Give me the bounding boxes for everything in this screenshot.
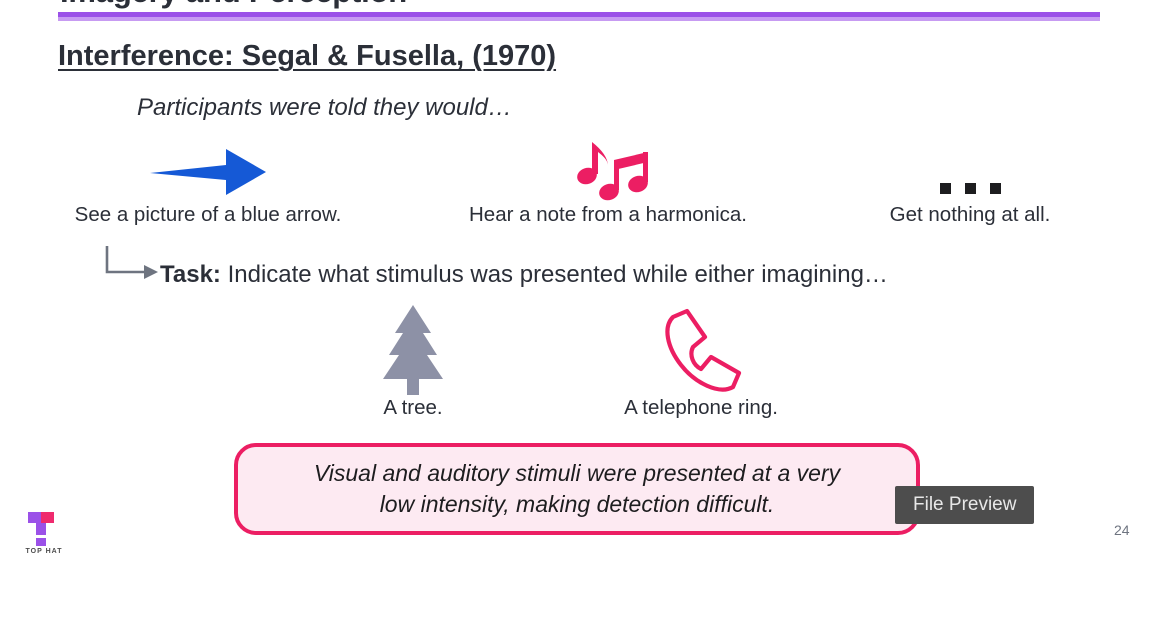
intro-subline: Participants were told they would…: [137, 94, 512, 122]
section-heading: Interference: Segal & Fusella, (1970): [58, 40, 556, 73]
imagine-label-phone: A telephone ring.: [598, 395, 804, 421]
callout-line-1: Visual and auditory stimuli were present…: [314, 460, 840, 486]
imagine-label-tree: A tree.: [318, 395, 508, 421]
stimulus-row: See a picture of a blue arrow. Hear a no…: [0, 140, 1156, 240]
callout-line-2: low intensity, making detection difficul…: [380, 491, 775, 517]
page-number: 24: [1114, 522, 1130, 538]
stimulus-label-notes: Hear a note from a harmonica.: [438, 202, 778, 228]
divider-sub-bar: [58, 17, 1100, 21]
logo-block-top-right: [41, 512, 54, 523]
stimulus-label-arrow: See a picture of a blue arrow.: [48, 202, 368, 228]
logo-block-stem: [36, 523, 46, 535]
blue-arrow-icon: [48, 140, 368, 202]
callout-text: Visual and auditory stimuli were present…: [292, 458, 862, 520]
logo-block-top-left: [28, 512, 41, 523]
task-label-rest: Indicate what stimulus was presented whi…: [221, 261, 888, 288]
music-notes-icon: [438, 140, 778, 202]
stimulus-item-notes: Hear a note from a harmonica.: [438, 140, 778, 228]
logo-block-dot: [36, 538, 46, 546]
slide-title-clipped: Imagery and Perception: [60, 0, 960, 10]
telephone-icon: [598, 300, 804, 395]
top-hat-logo: TOP HAT: [22, 512, 66, 560]
task-label-bold: Task:: [160, 261, 221, 288]
stimulus-label-nothing: Get nothing at all.: [845, 202, 1095, 228]
callout-box: Visual and auditory stimuli were present…: [234, 443, 920, 535]
ellipsis-dots-icon: [845, 140, 1095, 202]
file-preview-tooltip[interactable]: File Preview: [895, 486, 1034, 524]
imagine-item-phone: A telephone ring.: [598, 300, 804, 421]
purple-divider: [58, 12, 1100, 21]
pine-tree-icon: [318, 300, 508, 395]
top-hat-logo-text: TOP HAT: [22, 548, 66, 555]
imagine-item-tree: A tree.: [318, 300, 508, 421]
elbow-arrow-icon: [104, 246, 160, 284]
stimulus-item-arrow: See a picture of a blue arrow.: [48, 140, 368, 228]
stimulus-item-nothing: Get nothing at all.: [845, 140, 1095, 228]
task-line: Task: Indicate what stimulus was present…: [160, 261, 888, 289]
imagine-row: A tree. A telephone ring.: [0, 300, 1156, 420]
top-hat-logo-mark: [28, 512, 60, 544]
